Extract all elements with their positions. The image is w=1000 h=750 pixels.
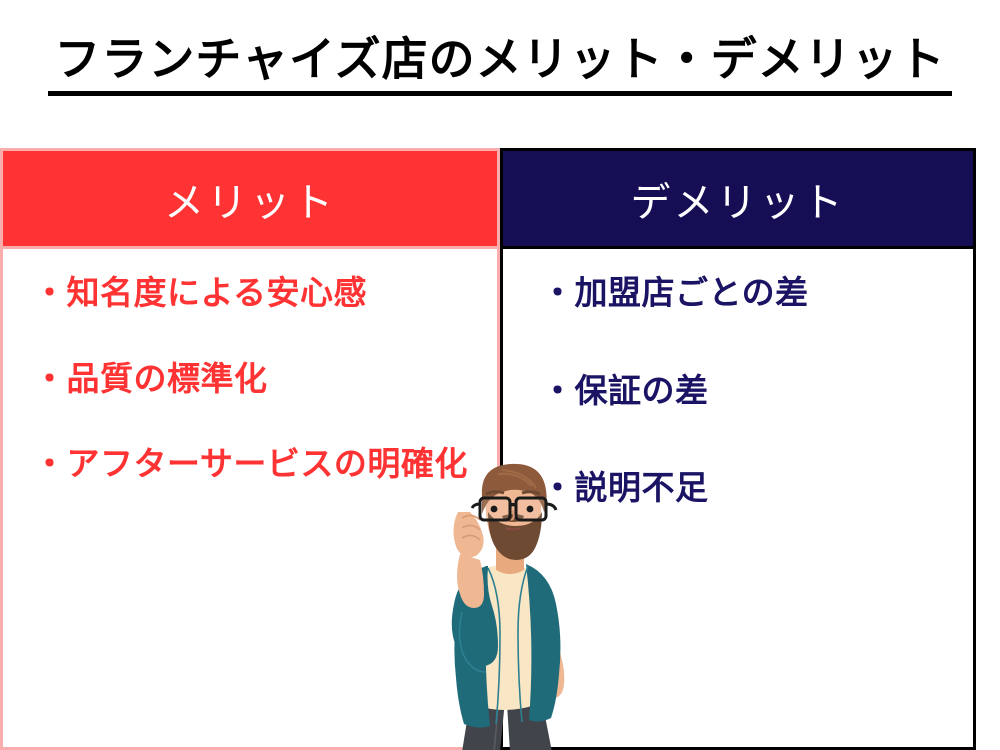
slide-title: フランチャイズ店のメリット・デメリット: [48, 34, 951, 96]
demerit-body: ・加盟店ごとの差 ・保証の差 ・説明不足: [500, 246, 976, 750]
merit-column: メリット ・知名度による安心感 ・品質の標準化 ・アフターサービスの明確化: [0, 148, 500, 750]
list-item: ・品質の標準化: [3, 357, 497, 401]
slide-title-container: フランチャイズ店のメリット・デメリット: [0, 34, 1000, 96]
slide-root: フランチャイズ店のメリット・デメリット メリット ・知名度による安心感 ・品質の…: [0, 0, 1000, 750]
merit-header-label: メリット: [164, 170, 336, 228]
demerit-header: デメリット: [500, 148, 976, 246]
demerit-column: デメリット ・加盟店ごとの差 ・保証の差 ・説明不足: [500, 148, 976, 750]
list-item: ・加盟店ごとの差: [503, 271, 973, 315]
demerit-header-label: デメリット: [631, 170, 846, 228]
demerit-bullet-list: ・加盟店ごとの差 ・保証の差 ・説明不足: [503, 271, 973, 510]
list-item: ・アフターサービスの明確化: [3, 442, 497, 486]
list-item: ・説明不足: [503, 466, 973, 510]
list-item: ・知名度による安心感: [3, 271, 497, 315]
comparison-table: メリット ・知名度による安心感 ・品質の標準化 ・アフターサービスの明確化 デメ…: [0, 148, 976, 750]
merit-bullet-list: ・知名度による安心感 ・品質の標準化 ・アフターサービスの明確化: [3, 271, 497, 486]
merit-header: メリット: [0, 148, 500, 246]
list-item: ・保証の差: [503, 369, 973, 413]
merit-body: ・知名度による安心感 ・品質の標準化 ・アフターサービスの明確化: [0, 246, 500, 750]
